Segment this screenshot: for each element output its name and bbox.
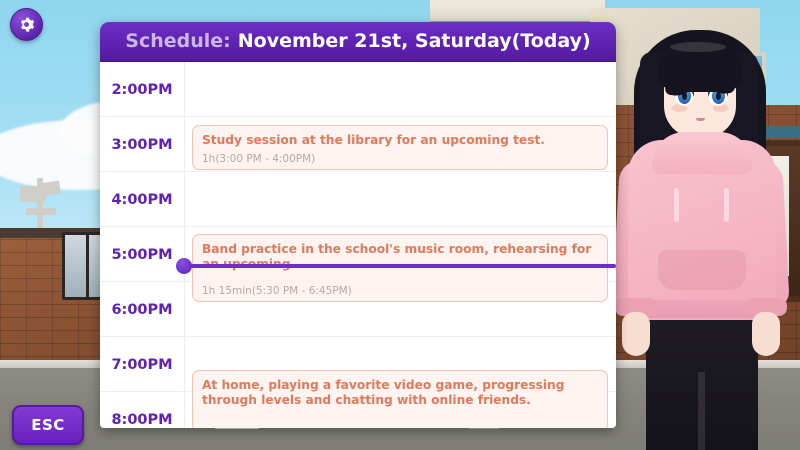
schedule-event-card[interactable]: At home, playing a favorite video game, …	[192, 370, 608, 428]
settings-button[interactable]	[10, 8, 43, 41]
event-duration: 1h(3:00 PM - 4:00PM)	[202, 153, 598, 166]
time-label: 4:00PM	[100, 172, 184, 227]
timeline-row[interactable]: 2:00PM	[100, 62, 616, 117]
current-time-indicator	[176, 258, 616, 274]
event-title: Study session at the library for an upco…	[202, 133, 598, 148]
schedule-title-date: November 21st, Saturday(Today)	[238, 30, 591, 52]
rooftop-antenna	[20, 178, 60, 230]
gear-icon	[18, 16, 35, 33]
timeline-row[interactable]: 4:00PM	[100, 172, 616, 227]
page-title: Schedule:November 21st, Saturday(Today)	[125, 32, 590, 51]
time-label: 3:00PM	[100, 117, 184, 172]
event-duration: 1h 15min(5:30 PM - 6:45PM)	[202, 285, 598, 298]
game-screen: ESC Schedule:November 21st, Saturday(Tod…	[0, 0, 800, 450]
schedule-event-card[interactable]: Study session at the library for an upco…	[192, 125, 608, 170]
time-label: 2:00PM	[100, 62, 184, 117]
current-time-line	[189, 264, 616, 268]
player-character	[612, 12, 790, 450]
time-label: 5:00PM	[100, 227, 184, 282]
time-label: 6:00PM	[100, 282, 184, 337]
time-label: 8:00PM	[100, 392, 184, 428]
schedule-grid[interactable]: 2:00PM 3:00PM 4:00PM 5:00PM 6:00PM 7:00P…	[100, 62, 616, 428]
schedule-header: Schedule:November 21st, Saturday(Today)	[100, 22, 616, 62]
schedule-panel: Schedule:November 21st, Saturday(Today) …	[100, 22, 616, 428]
event-title: At home, playing a favorite video game, …	[202, 378, 598, 409]
time-label: 7:00PM	[100, 337, 184, 392]
schedule-title-label: Schedule:	[125, 30, 230, 52]
esc-button-label: ESC	[31, 416, 65, 434]
esc-button[interactable]: ESC	[12, 405, 84, 445]
